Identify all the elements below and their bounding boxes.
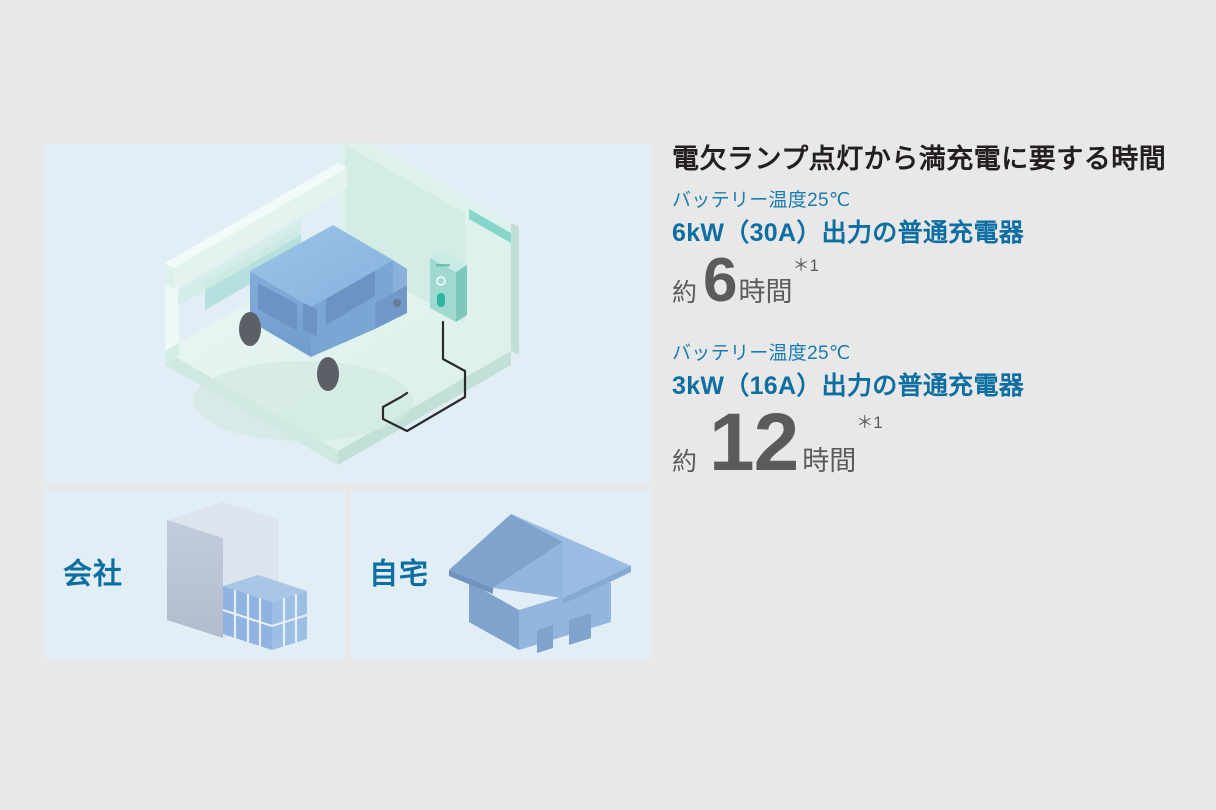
- ev-van-charging-in-carport-illustration: [45, 143, 651, 484]
- carport-illustration-panel: [45, 143, 651, 484]
- charger-spec-6kw: 6kW（30A）出力の普通充電器: [672, 218, 1192, 249]
- house-illustration: [441, 490, 651, 659]
- charging-time-info: 電欠ランプ点灯から満充電に要する時間 バッテリー温度25℃ 6kW（30A）出力…: [672, 143, 1192, 484]
- battery-temperature-6kw: バッテリー温度25℃: [672, 189, 1192, 214]
- charging-time-3kw: 約 12 時間 ＊1: [672, 408, 1192, 478]
- infographic-root: 会社: [0, 0, 1216, 810]
- charger-block-6kw: バッテリー温度25℃ 6kW（30A）出力の普通充電器 約 6 時間 ＊1: [672, 189, 1192, 308]
- house-body: [449, 514, 631, 653]
- charging-time-6kw: 約 6 時間 ＊1: [672, 255, 1192, 308]
- office-label: 会社: [63, 560, 123, 589]
- charging-hours-3kw: 12: [709, 408, 798, 478]
- office-annex: [223, 575, 307, 650]
- footnote-marker-3kw: ＊1: [856, 414, 882, 431]
- hours-unit-6kw: 時間: [739, 279, 793, 306]
- page-title: 電欠ランプ点灯から満充電に要する時間: [672, 143, 1192, 175]
- van-shadow: [193, 361, 413, 441]
- office-building-illustration: [145, 490, 345, 659]
- charging-hours-6kw: 6: [703, 255, 736, 308]
- approx-prefix-6kw: 約: [672, 281, 697, 306]
- footnote-marker-6kw: ＊1: [793, 257, 819, 274]
- office-panel: 会社: [45, 490, 345, 659]
- charger-block-3kw: バッテリー温度25℃ 3kW（16A）出力の普通充電器 約 12 時間 ＊1: [672, 342, 1192, 478]
- home-panel: 自宅: [351, 490, 651, 659]
- van-wheel-front: [239, 312, 261, 346]
- hours-unit-3kw: 時間: [802, 448, 856, 475]
- home-label: 自宅: [369, 560, 429, 589]
- van-wheel-rear: [317, 357, 339, 391]
- approx-prefix-3kw: 約: [672, 450, 697, 475]
- battery-temperature-3kw: バッテリー温度25℃: [672, 342, 1192, 367]
